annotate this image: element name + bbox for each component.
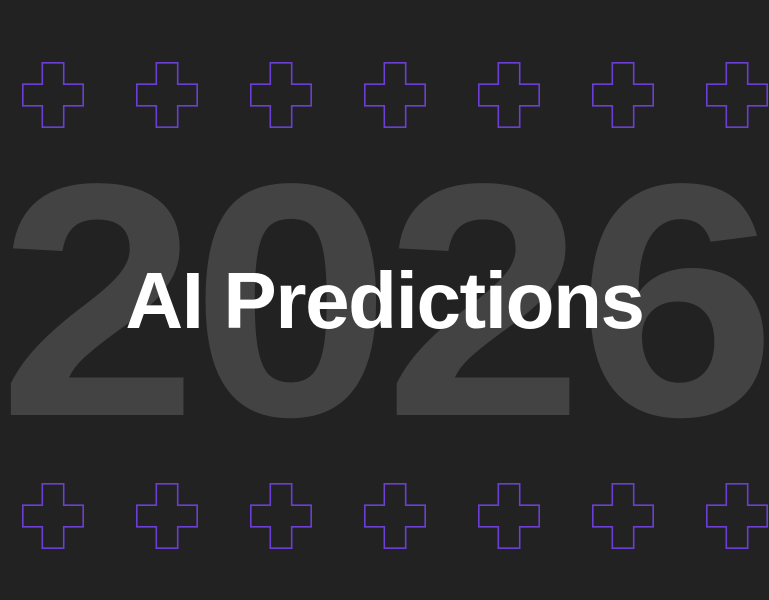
- headline-container: AI Predictions: [0, 0, 769, 600]
- page-title: AI Predictions: [125, 260, 643, 342]
- ai-predictions-banner: 2026 AI Predictions: [0, 0, 769, 600]
